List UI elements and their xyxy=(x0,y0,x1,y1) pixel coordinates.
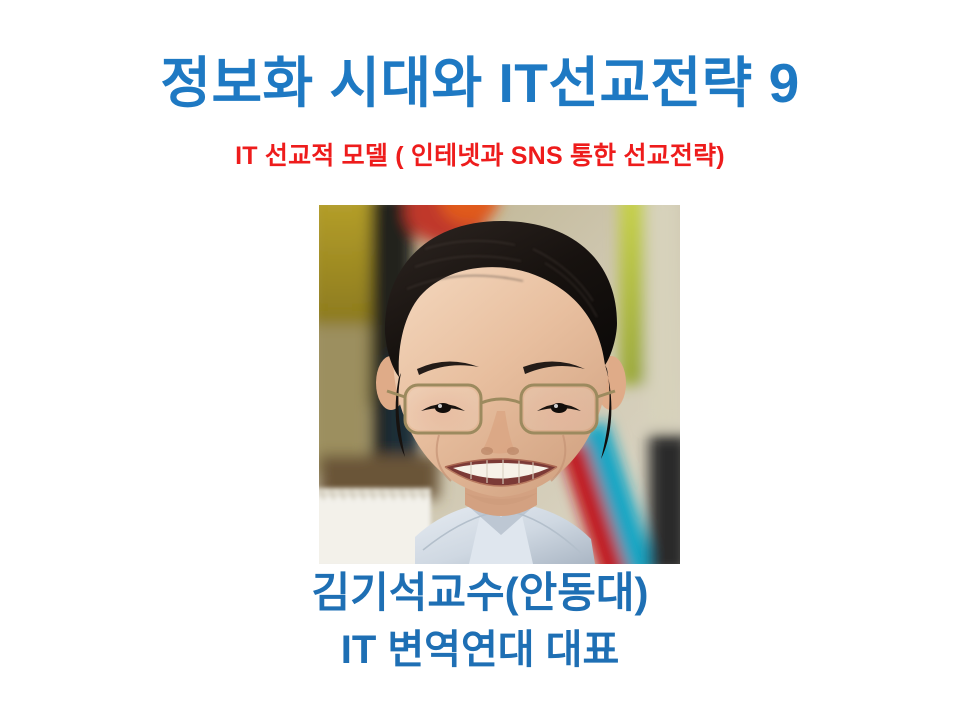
speaker-name: 김기석교수(안동대) xyxy=(0,568,960,618)
presentation-slide: 정보화 시대와 IT선교전략 9 IT 선교적 모델 ( 인테넷과 SNS 통한… xyxy=(0,0,960,720)
page-title: 정보화 시대와 IT선교전략 9 xyxy=(0,52,960,114)
portrait-illustration xyxy=(319,205,680,564)
speaker-affiliation: IT 변역연대 대표 xyxy=(0,626,960,674)
slide-subtitle: IT 선교적 모델 ( 인테넷과 SNS 통한 선교전략) xyxy=(0,141,960,171)
speaker-portrait-photo xyxy=(319,205,680,564)
